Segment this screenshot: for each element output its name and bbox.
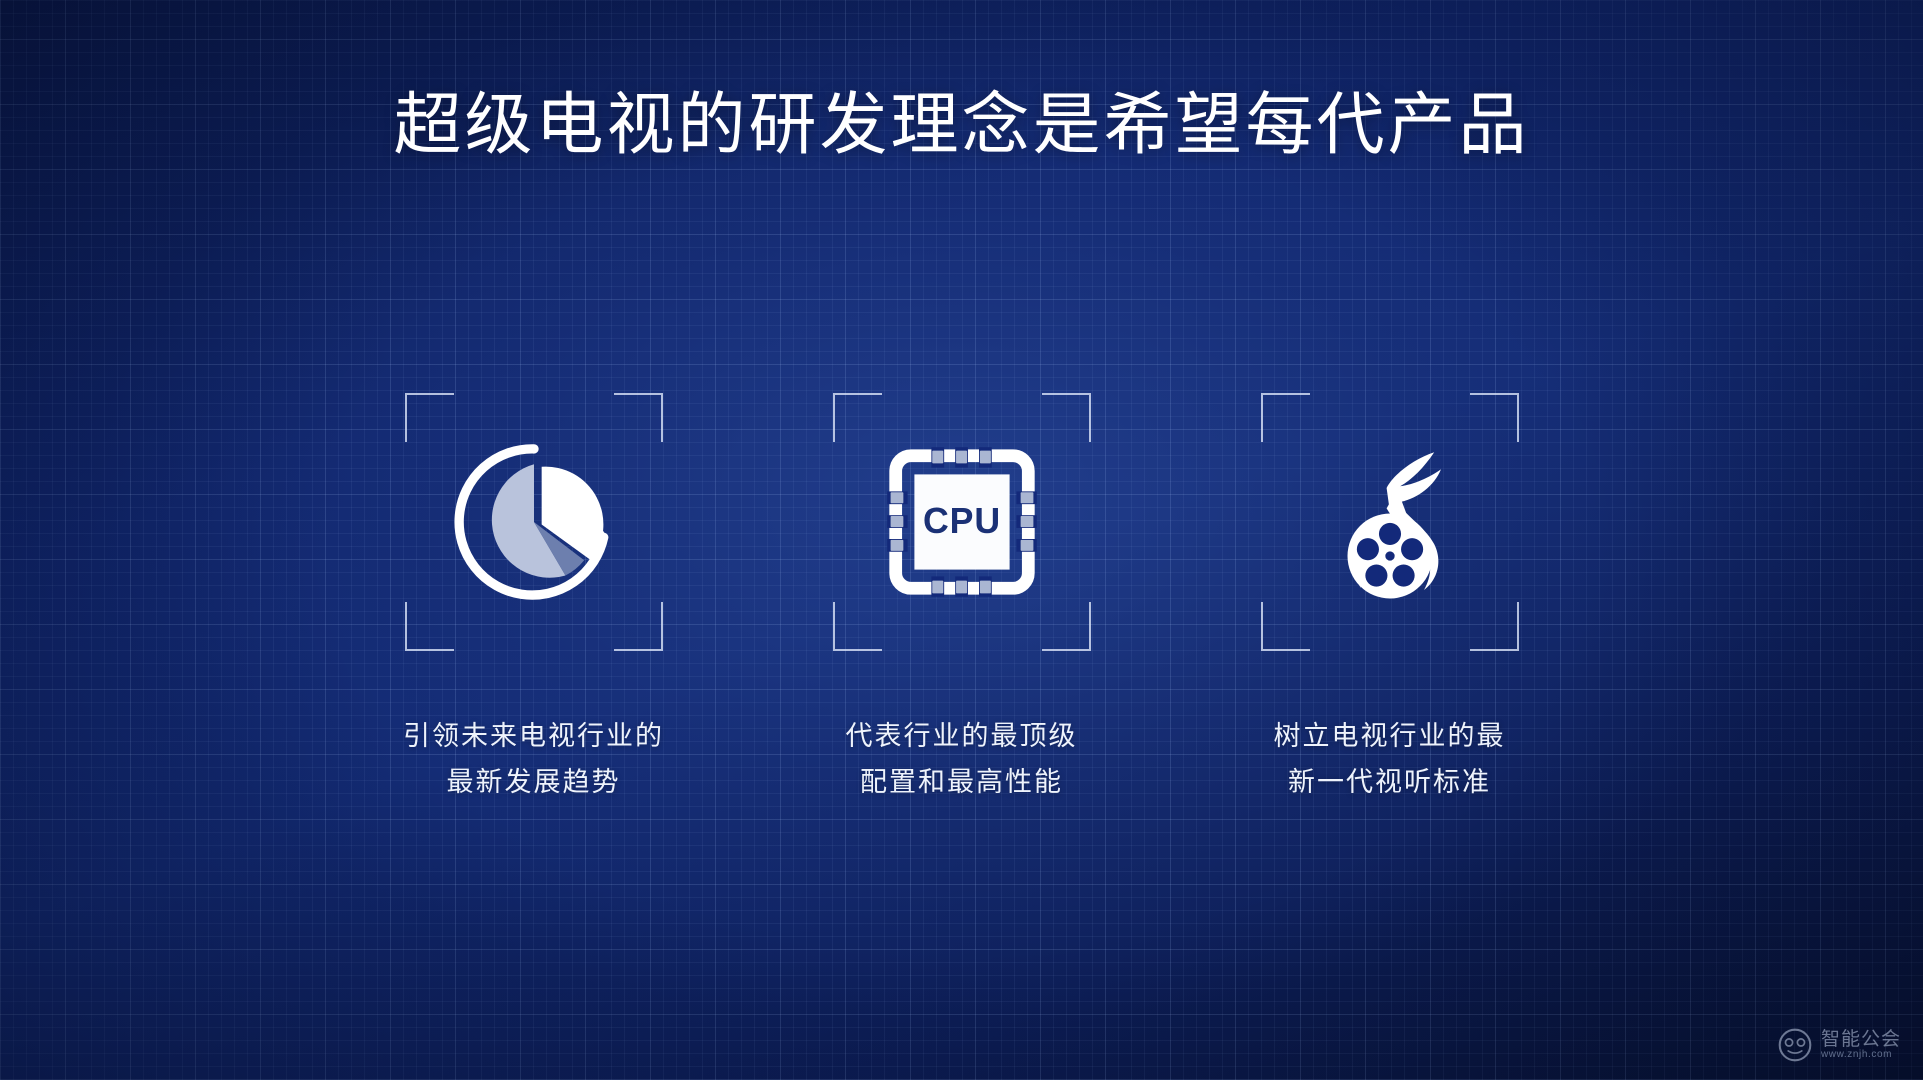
caption-line-1: 引领未来电视行业的 bbox=[403, 713, 664, 759]
frame-corner-bottom-left bbox=[1261, 602, 1310, 651]
frame-corner-bottom-right bbox=[1042, 602, 1091, 651]
frame-corner-top-left bbox=[405, 393, 454, 442]
feature-card-trend: 引领未来电视行业的 最新发展趋势 bbox=[364, 393, 704, 806]
frame-corner-top-left bbox=[833, 393, 882, 442]
watermark-text: 智能公会 www.znjh.com bbox=[1821, 1030, 1901, 1060]
caption-line-1: 代表行业的最顶级 bbox=[846, 713, 1078, 759]
caption-line-2: 配置和最高性能 bbox=[846, 759, 1078, 805]
frame-corner-bottom-left bbox=[405, 602, 454, 651]
caption-line-2: 新一代视听标准 bbox=[1274, 759, 1506, 805]
icon-frame bbox=[1261, 393, 1519, 651]
icon-frame bbox=[405, 393, 663, 651]
frame-corner-top-right bbox=[614, 393, 663, 442]
pie-chart-refresh-icon bbox=[449, 437, 619, 607]
feature-card-list: 引领未来电视行业的 最新发展趋势 bbox=[0, 393, 1923, 806]
watermark-name: 智能公会 bbox=[1821, 1030, 1901, 1050]
watermark-logo-icon bbox=[1778, 1028, 1812, 1062]
feature-card-audiovisual: 树立电视行业的最 新一代视听标准 bbox=[1220, 393, 1560, 806]
frame-corner-top-right bbox=[1470, 393, 1519, 442]
feature-caption: 代表行业的最顶级 配置和最高性能 bbox=[846, 713, 1078, 806]
watermark: 智能公会 www.znjh.com bbox=[1778, 1028, 1901, 1062]
cpu-icon-label: CPU bbox=[923, 501, 1001, 541]
caption-line-2: 最新发展趋势 bbox=[403, 759, 664, 805]
slide-canvas: 超级电视的研发理念是希望每代产品 bbox=[0, 0, 1923, 1080]
frame-corner-top-right bbox=[1042, 393, 1091, 442]
caption-line-1: 树立电视行业的最 bbox=[1274, 713, 1506, 759]
frame-corner-top-left bbox=[1261, 393, 1310, 442]
icon-frame: CPU bbox=[833, 393, 1091, 651]
frame-corner-bottom-right bbox=[614, 602, 663, 651]
page-title: 超级电视的研发理念是希望每代产品 bbox=[0, 88, 1923, 163]
feature-caption: 引领未来电视行业的 最新发展趋势 bbox=[403, 713, 664, 806]
feature-card-performance: CPU 代表行业的最顶级 配置和最高性能 bbox=[792, 393, 1132, 806]
feature-caption: 树立电视行业的最 新一代视听标准 bbox=[1274, 713, 1506, 806]
film-reel-icon bbox=[1305, 437, 1475, 607]
cpu-chip-icon: CPU bbox=[877, 437, 1047, 607]
watermark-url: www.znjh.com bbox=[1821, 1050, 1901, 1061]
frame-corner-bottom-right bbox=[1470, 602, 1519, 651]
frame-corner-bottom-left bbox=[833, 602, 882, 651]
